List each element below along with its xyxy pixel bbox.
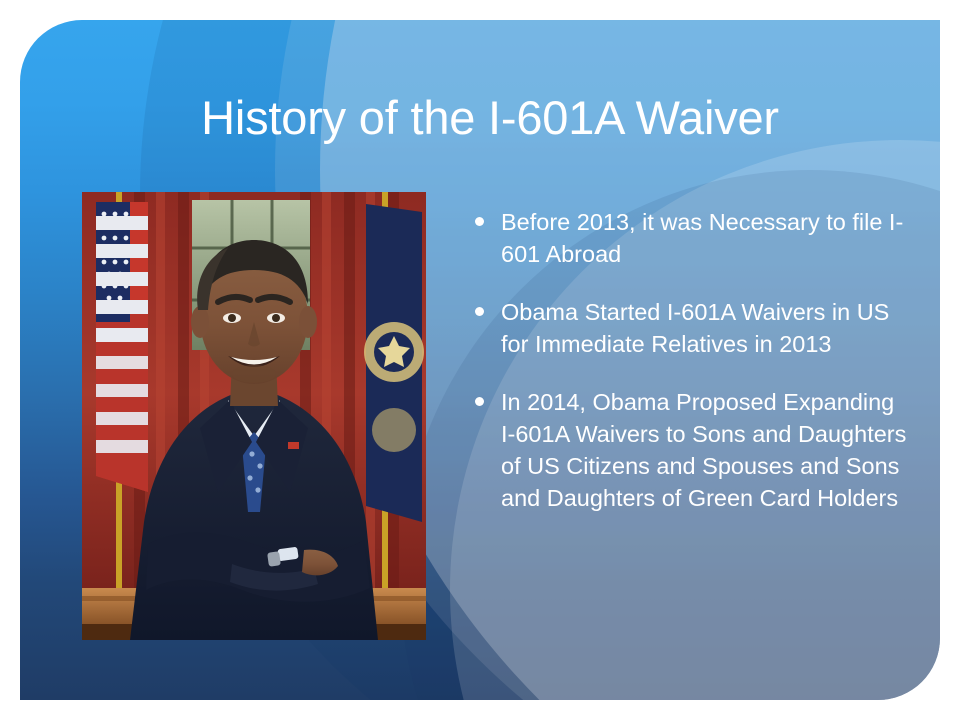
presentation-slide: History of the I-601A Waiver xyxy=(20,20,940,700)
bullet-dot-icon xyxy=(475,397,484,406)
obama-portrait-image xyxy=(82,192,426,640)
slide-title: History of the I-601A Waiver xyxy=(80,92,900,144)
bullet-item: In 2014, Obama Proposed Expanding I-601A… xyxy=(475,386,910,514)
bullet-text: Before 2013, it was Necessary to file I-… xyxy=(501,206,910,270)
slide-root: History of the I-601A Waiver xyxy=(0,0,960,720)
bullet-dot-icon xyxy=(475,217,484,226)
bullet-dot-icon xyxy=(475,307,484,316)
bullet-item: Before 2013, it was Necessary to file I-… xyxy=(475,206,910,270)
bullet-text: In 2014, Obama Proposed Expanding I-601A… xyxy=(501,386,910,514)
bullet-text: Obama Started I-601A Waivers in US for I… xyxy=(501,296,910,360)
bullet-item: Obama Started I-601A Waivers in US for I… xyxy=(475,296,910,360)
obama-portrait-svg xyxy=(82,192,426,640)
bullet-list: Before 2013, it was Necessary to file I-… xyxy=(475,206,910,514)
